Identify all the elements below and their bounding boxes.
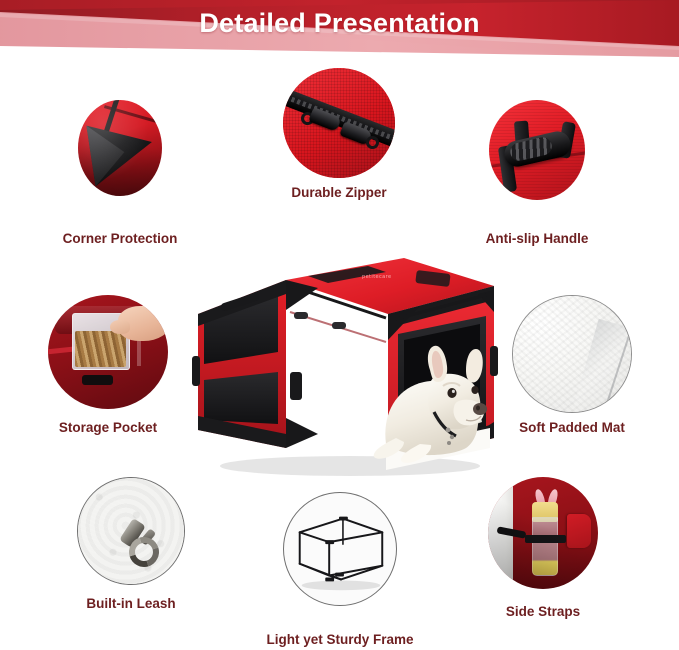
- frame-icon: [283, 492, 397, 606]
- feature-storage-pocket[interactable]: [48, 295, 168, 409]
- corner-protection-icon: [78, 100, 162, 196]
- page-title: Detailed Presentation: [0, 8, 679, 39]
- caption-durable-zipper: Durable Zipper: [209, 185, 469, 200]
- feature-durable-zipper[interactable]: [283, 68, 395, 178]
- soft-padded-mat-icon: [512, 295, 632, 413]
- feature-anti-slip-handle[interactable]: [489, 100, 585, 200]
- header-banner: Detailed Presentation: [0, 0, 679, 72]
- durable-zipper-icon: [283, 68, 395, 178]
- dog-crate-graphic: [190, 252, 502, 480]
- storage-pocket-icon: [48, 295, 168, 409]
- feature-soft-padded-mat[interactable]: [512, 295, 632, 413]
- feature-light-yet-sturdy-frame[interactable]: [283, 492, 397, 606]
- caption-light-yet-sturdy-frame: Light yet Sturdy Frame: [210, 632, 470, 647]
- caption-side-straps: Side Straps: [413, 604, 673, 619]
- brand-logo: petitecare: [362, 274, 391, 280]
- infographic-page: Detailed Presentation Corner Protection: [0, 0, 679, 650]
- feature-side-straps[interactable]: [488, 477, 598, 589]
- anti-slip-handle-icon: [489, 100, 585, 200]
- caption-built-in-leash: Built-in Leash: [1, 596, 261, 611]
- frame-wireframe-graphic: [284, 493, 396, 605]
- side-straps-icon: [488, 477, 598, 589]
- caption-anti-slip-handle: Anti-slip Handle: [407, 231, 667, 246]
- feature-built-in-leash[interactable]: [77, 477, 185, 585]
- feature-corner-protection[interactable]: [78, 100, 162, 196]
- product-image: petitecare: [190, 252, 502, 480]
- caption-corner-protection: Corner Protection: [0, 231, 250, 246]
- built-in-leash-icon: [77, 477, 185, 585]
